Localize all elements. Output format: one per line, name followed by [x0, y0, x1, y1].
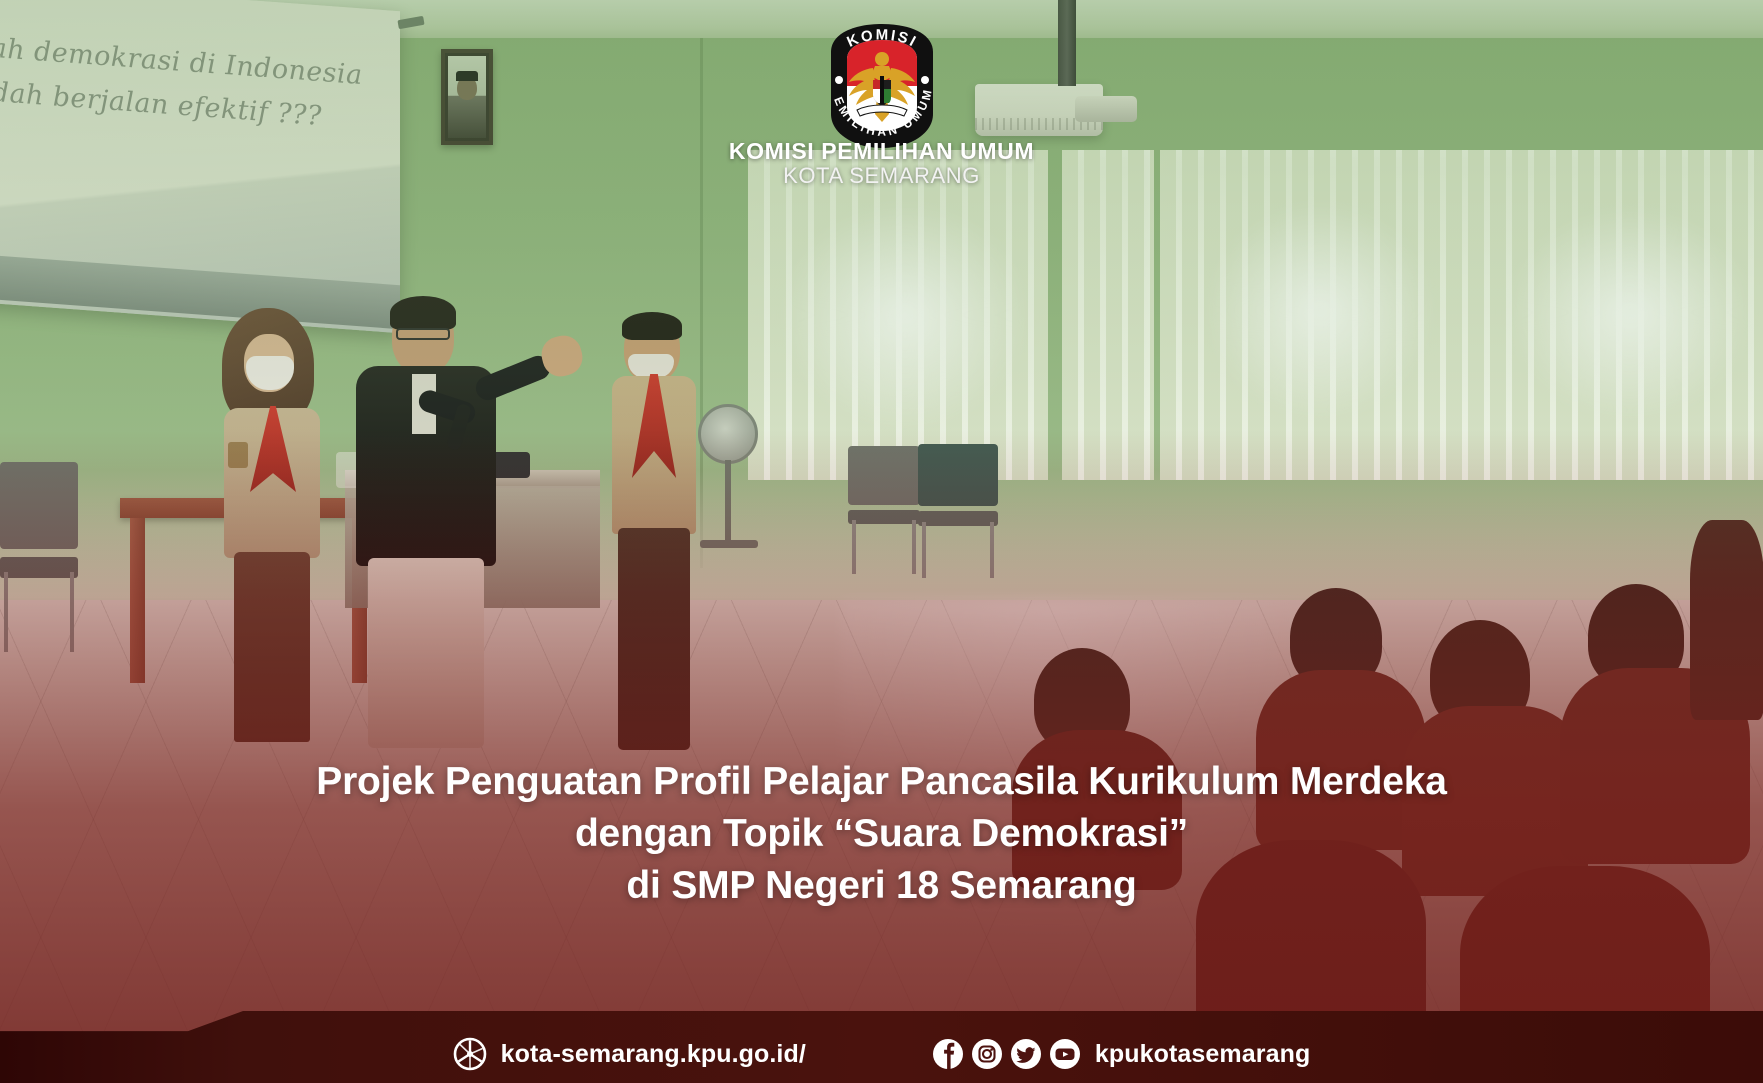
- folding-chair: [848, 446, 920, 574]
- social-group[interactable]: kpukotasemarang: [932, 1038, 1310, 1070]
- youtube-icon[interactable]: [1049, 1038, 1081, 1070]
- poster-canvas: kah demokrasi di Indonesia udah berjalan…: [0, 0, 1763, 1083]
- social-icons[interactable]: [932, 1038, 1081, 1070]
- ceiling-projector: [1075, 96, 1137, 122]
- headline-line-2: dengan Topik “Suara Demokrasi”: [90, 808, 1673, 860]
- organization-name: KOMISI PEMILIHAN UMUM: [0, 138, 1763, 165]
- chair-leg: [990, 522, 994, 578]
- chair-leg: [852, 520, 856, 574]
- light-trousers: [368, 558, 484, 748]
- scout-trousers: [618, 528, 690, 750]
- window-middle: [1062, 150, 1154, 480]
- window-glow: [1205, 200, 1435, 420]
- standing-fan-pole: [725, 460, 731, 546]
- chair-back: [848, 446, 920, 505]
- facebook-icon[interactable]: [932, 1038, 964, 1070]
- portrait-cap: [456, 71, 478, 81]
- eyeglasses: [396, 328, 450, 340]
- chair-seat: [848, 510, 920, 524]
- uniform-badge: [228, 442, 248, 468]
- scout-skirt: [234, 552, 310, 742]
- headline-line-1: Projek Penguatan Profil Pelajar Pancasil…: [90, 756, 1673, 808]
- globe-icon: [453, 1037, 487, 1071]
- standing-fan-head: [698, 404, 758, 464]
- footer-content: kota-semarang.kpu.go.id/: [0, 1025, 1763, 1083]
- ceiling-mount-beam: [1058, 0, 1076, 86]
- chair-leg: [912, 520, 916, 574]
- chair-leg: [922, 522, 926, 578]
- folding-chair: [918, 444, 998, 578]
- standing-fan-base: [700, 540, 758, 548]
- folding-chair: [0, 462, 78, 652]
- kpu-logo: KOMISI PEMILIHAN UMUM: [823, 22, 941, 150]
- chair-back: [918, 444, 998, 506]
- window-blinds: [1062, 150, 1154, 480]
- hair: [622, 312, 682, 340]
- speaker-presenter: [356, 300, 596, 755]
- website-url[interactable]: kota-semarang.kpu.go.id/: [501, 1040, 806, 1069]
- wall-portrait: [441, 49, 493, 145]
- social-handle[interactable]: kpukotasemarang: [1095, 1040, 1310, 1069]
- chair-leg: [4, 572, 8, 652]
- chair-back: [0, 462, 78, 549]
- chair-seat: [918, 511, 998, 526]
- instagram-icon[interactable]: [971, 1038, 1003, 1070]
- hair: [390, 296, 456, 330]
- student-girl-scout: [222, 308, 322, 748]
- headline-block: Projek Penguatan Profil Pelajar Pancasil…: [0, 756, 1763, 912]
- table-leg: [130, 518, 145, 683]
- window-glow: [780, 200, 1030, 430]
- chair-leg: [70, 572, 74, 652]
- twitter-icon[interactable]: [1010, 1038, 1042, 1070]
- headline-line-3: di SMP Negeri 18 Semarang: [90, 860, 1673, 912]
- website-group[interactable]: kota-semarang.kpu.go.id/: [453, 1037, 806, 1071]
- audience-student-body: [1690, 520, 1763, 720]
- chair-seat: [0, 557, 78, 578]
- window-glow: [1505, 205, 1755, 420]
- student-boy-scout: [612, 316, 698, 756]
- organization-city: KOTA SEMARANG: [0, 163, 1763, 189]
